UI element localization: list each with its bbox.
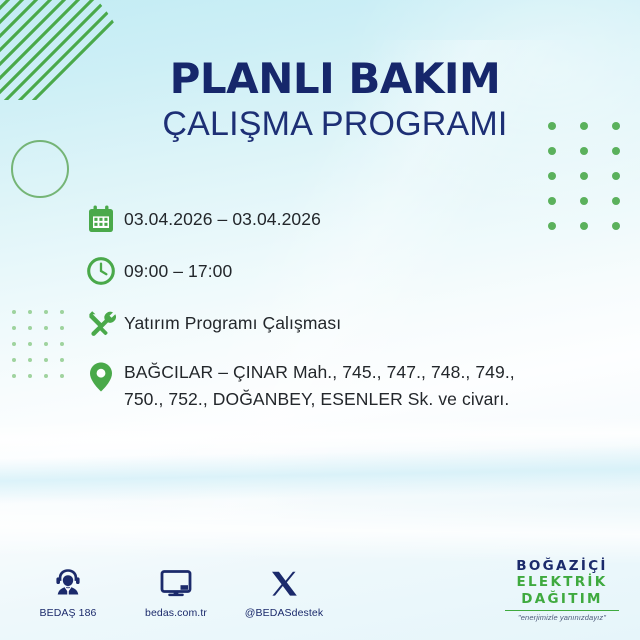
page-title: PLANLI BAKIM ÇALIŞMA PROGRAMI (140, 58, 530, 143)
calendar-icon (86, 200, 124, 238)
title-secondary: ÇALIŞMA PROGRAMI (140, 106, 530, 143)
bedas-logo: BOĞAZİÇİ ELEKTRİK DAĞITIM "enerjimizle y… (501, 558, 623, 622)
logo-line-bogazici: BOĞAZİÇİ (501, 558, 623, 574)
monitor-website-icon (134, 562, 218, 600)
headset-support-icon (26, 562, 110, 600)
title-primary: PLANLI BAKIM (140, 58, 530, 101)
footer: BEDAŞ 186 bedas.com.tr (0, 556, 640, 640)
location-pin-icon (86, 356, 124, 396)
planned-maintenance-poster: PLANLI BAKIM ÇALIŞMA PROGRAMI (0, 0, 640, 640)
detail-row-date: 03.04.2026 – 03.04.2026 (86, 200, 556, 238)
background-wave-bottom (0, 495, 640, 566)
detail-row-time: 09:00 – 17:00 (86, 252, 556, 290)
tools-icon (86, 304, 124, 342)
contact-social-label: @BEDASdestek (242, 607, 326, 619)
circle-outline-decoration (11, 140, 69, 198)
dot-grid-left-decoration (12, 310, 76, 390)
detail-text-date: 03.04.2026 – 03.04.2026 (124, 200, 321, 233)
logo-divider (505, 610, 619, 611)
logo-line-dagitim: DAĞITIM (501, 591, 623, 607)
diagonal-stripes-decoration (0, 0, 136, 100)
contact-phone[interactable]: BEDAŞ 186 (26, 562, 110, 619)
dot-grid-right-decoration (548, 122, 640, 247)
contact-website-label: bedas.com.tr (134, 607, 218, 619)
contact-channels: BEDAŞ 186 bedas.com.tr (26, 562, 326, 619)
clock-icon (86, 252, 124, 290)
detail-row-location: BAĞCILAR – ÇINAR Mah., 745., 747., 748.,… (86, 356, 556, 413)
detail-text-work-type: Yatırım Programı Çalışması (124, 304, 341, 337)
x-twitter-icon (242, 562, 326, 600)
logo-tagline: "enerjimizle yanınızdayız" (501, 613, 623, 622)
background-wave-middle (0, 445, 640, 506)
detail-text-time: 09:00 – 17:00 (124, 252, 232, 285)
contact-social[interactable]: @BEDASdestek (242, 562, 326, 619)
contact-website[interactable]: bedas.com.tr (134, 562, 218, 619)
detail-text-location: BAĞCILAR – ÇINAR Mah., 745., 747., 748.,… (124, 356, 556, 413)
contact-phone-label: BEDAŞ 186 (26, 607, 110, 619)
logo-line-elektrik: ELEKTRİK (501, 574, 623, 590)
detail-row-work-type: Yatırım Programı Çalışması (86, 304, 556, 342)
maintenance-details-list: 03.04.2026 – 03.04.2026 09:00 – 17:00 (86, 200, 556, 427)
